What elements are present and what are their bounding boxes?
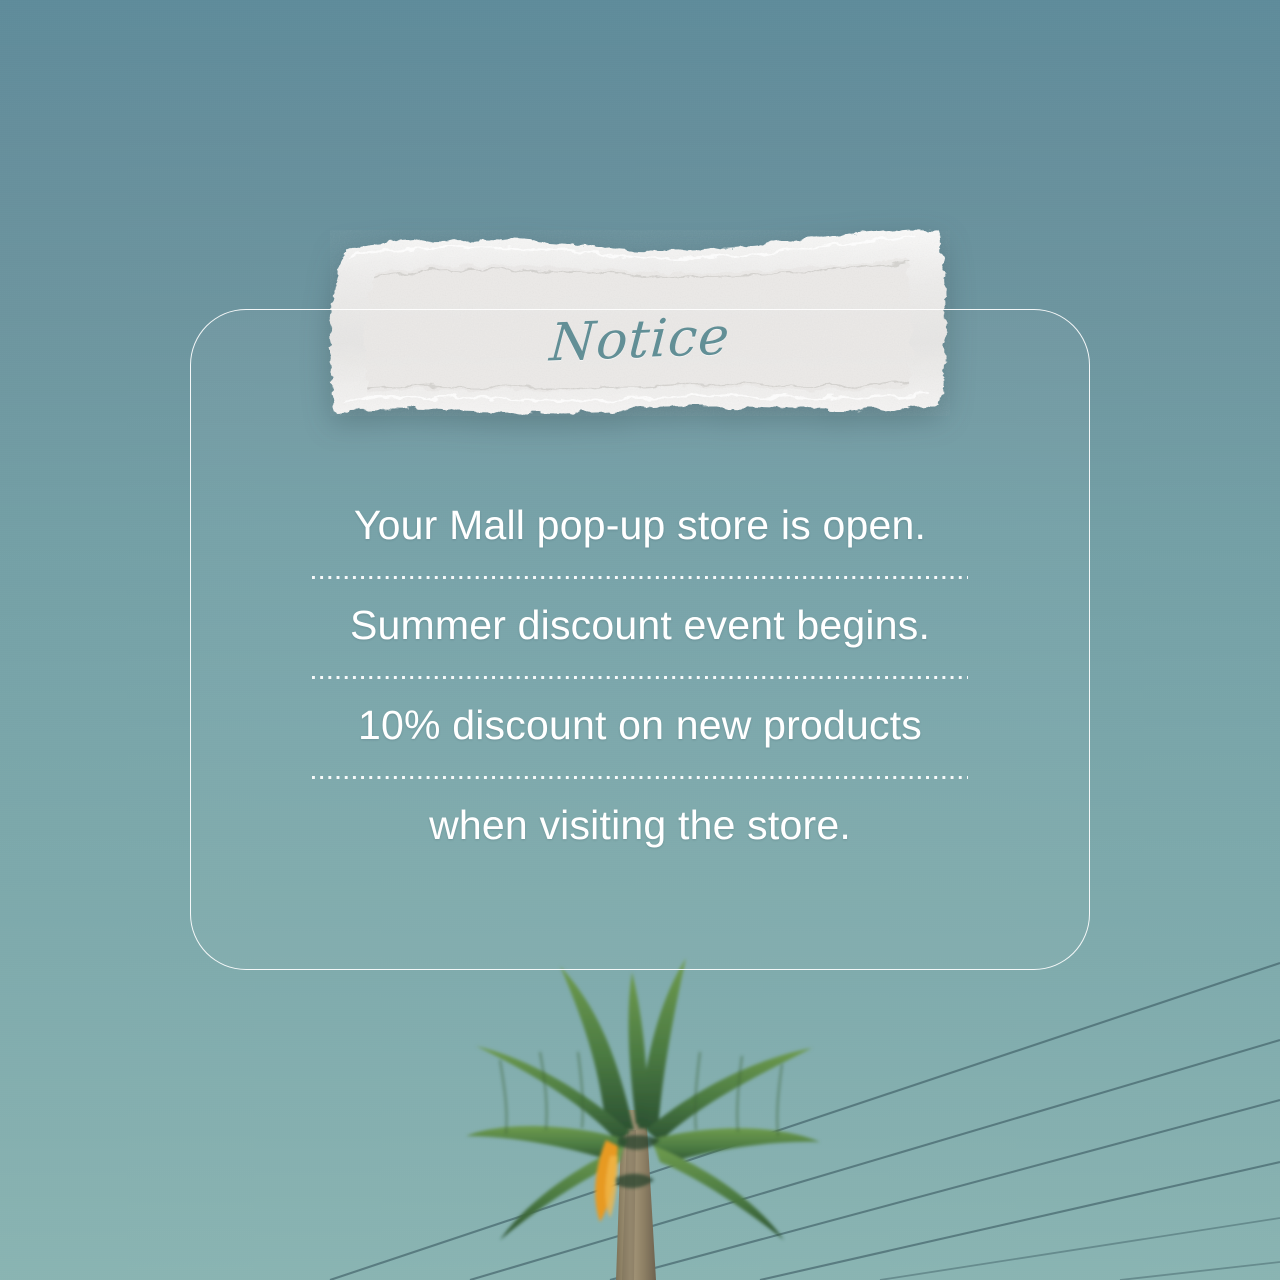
notice-card-content: Your Mall pop-up store is open. Summer d… bbox=[190, 309, 1090, 970]
notice-divider-3 bbox=[312, 776, 968, 779]
notice-line-3: 10% discount on new products bbox=[190, 705, 1090, 746]
notice-line-4: when visiting the store. bbox=[190, 805, 1090, 846]
notice-divider-2 bbox=[312, 676, 968, 679]
poster-canvas: Notice Your Mall pop-up store is open. S… bbox=[0, 0, 1280, 1280]
notice-divider-1 bbox=[312, 576, 968, 579]
notice-line-2: Summer discount event begins. bbox=[190, 605, 1090, 646]
notice-line-1: Your Mall pop-up store is open. bbox=[190, 505, 1090, 546]
